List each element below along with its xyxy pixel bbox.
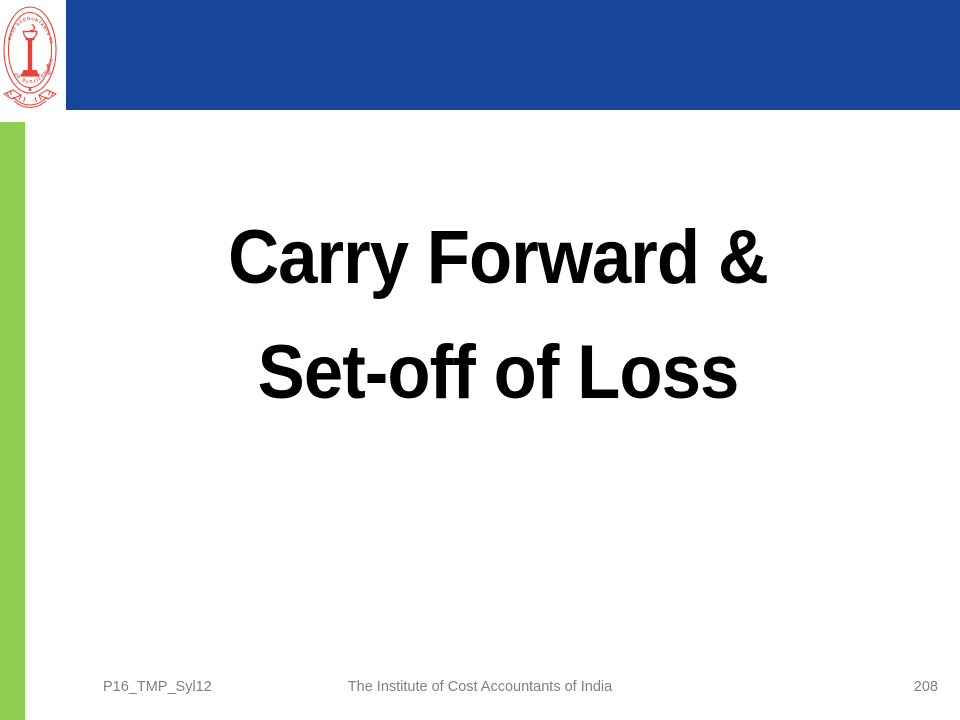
slide-title: Carry Forward & Set-off of Loss — [66, 200, 930, 430]
institute-seal-logo: COST ACCOUNTANTS OF THE INSTITUTE OF IND… — [1, 2, 59, 112]
slide-footer: P16_TMP_Syl12 The Institute of Cost Acco… — [0, 676, 960, 700]
left-accent-bar — [0, 122, 25, 720]
slide-canvas: COST ACCOUNTANTS OF THE INSTITUTE OF IND… — [0, 0, 960, 720]
header-banner — [66, 0, 960, 110]
footer-page-number: 208 — [0, 676, 938, 698]
title-line-2: Set-off of Loss — [96, 315, 900, 430]
title-line-1: Carry Forward & — [96, 200, 900, 315]
